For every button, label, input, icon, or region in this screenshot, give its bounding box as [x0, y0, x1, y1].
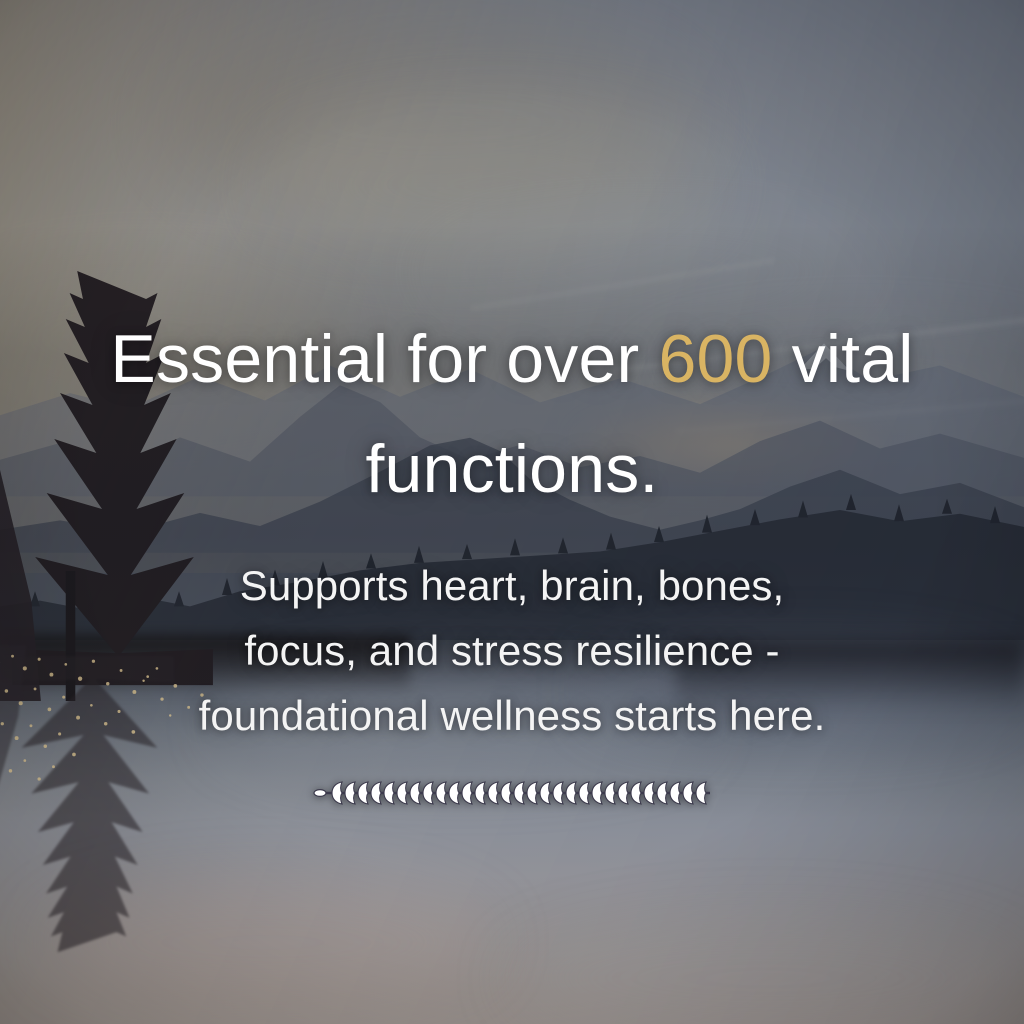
subcopy-line-1: Supports heart, brain, bones,: [92, 553, 932, 618]
laurel-vine-divider-icon: [310, 778, 714, 808]
subcopy-line-2: focus, and stress resilience -: [92, 618, 932, 683]
content-overlay: Essential for over 600 vital functions. …: [0, 0, 1024, 1024]
headline-accent-number: 600: [658, 321, 772, 397]
subcopy: Supports heart, brain, bones, focus, and…: [92, 524, 932, 748]
headline: Essential for over 600 vital functions.: [41, 0, 983, 524]
headline-line-2: functions.: [365, 431, 658, 507]
headline-part-after: vital: [773, 321, 914, 397]
poster-canvas: Essential for over 600 vital functions. …: [0, 0, 1024, 1024]
headline-part-before: Essential for over: [110, 321, 658, 397]
subcopy-line-3: foundational wellness starts here.: [92, 683, 932, 748]
